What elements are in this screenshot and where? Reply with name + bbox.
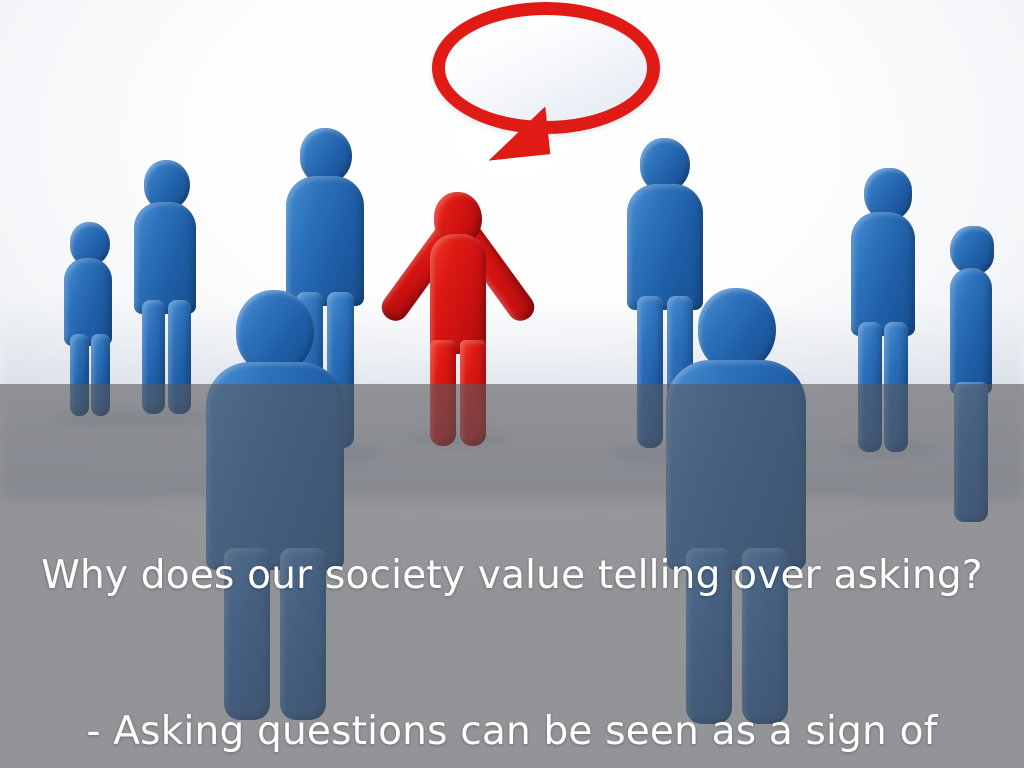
caption-text-block: Why does our society value telling over …	[0, 446, 1024, 768]
caption-line-2: - Asking questions can be seen as a sign…	[0, 706, 1024, 758]
slide-canvas: Why does our society value telling over …	[0, 0, 1024, 768]
figure-body	[286, 176, 364, 306]
figure-body	[851, 212, 915, 336]
caption-line-1: Why does our society value telling over …	[0, 550, 1024, 602]
figure-torso	[430, 234, 486, 354]
speech-bubble	[432, 2, 662, 162]
figure-head	[950, 226, 994, 274]
speech-bubble-tail	[474, 106, 551, 161]
figure-body	[64, 258, 112, 346]
figure-body	[134, 202, 196, 314]
blue-figure-left-rear	[128, 160, 206, 422]
figure-body	[950, 268, 992, 394]
